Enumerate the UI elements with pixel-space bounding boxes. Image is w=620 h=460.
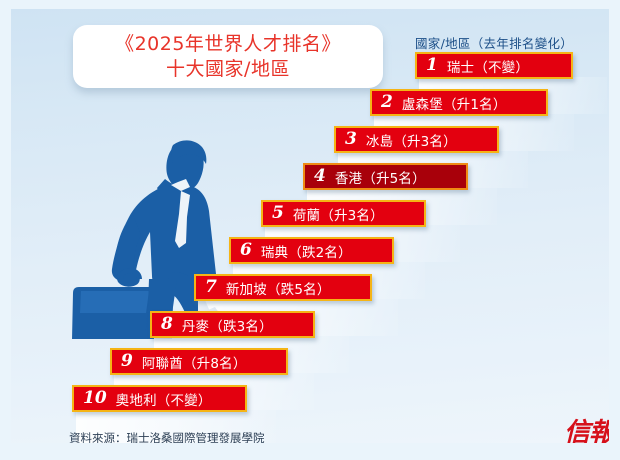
rank-bar-3[interactable]: 3 冰島（升3名） <box>334 126 499 153</box>
rank-number-4: 4 <box>305 168 328 185</box>
rank-bar-4[interactable]: 4 香港（升5名） <box>303 163 468 190</box>
rank-number-7: 7 <box>196 279 219 296</box>
rank-number-2: 2 <box>372 94 395 111</box>
infographic-panel: 《2025年世界人才排名》 十大國家/地區 國家/地區（去年排名變化） <box>11 9 609 443</box>
rank-label-1: 瑞士（不變） <box>440 56 539 76</box>
publisher-logo: 信報 <box>544 417 609 443</box>
rank-number-6: 6 <box>231 242 254 259</box>
rank-bar-5[interactable]: 5 荷蘭（升3名） <box>261 200 426 227</box>
step-rank-5: 5 荷蘭（升3名） <box>261 200 426 227</box>
step-rank-2: 2 盧森堡（升1名） <box>370 89 548 116</box>
step-rank-6: 6 瑞典（跌2名） <box>229 237 394 264</box>
rank-label-5: 荷蘭（升3名） <box>286 204 394 224</box>
step-rank-4: 4 香港（升5名） <box>303 163 468 190</box>
rank-label-9: 阿聯酋（升8名） <box>135 352 257 372</box>
step-rank-7: 7 新加坡（跌5名） <box>194 274 372 301</box>
rank-number-5: 5 <box>263 205 286 222</box>
step-rank-10: 10 奧地利（不變） <box>72 385 247 412</box>
rank-label-10: 奧地利（不變） <box>109 389 222 409</box>
rank-bar-10[interactable]: 10 奧地利（不變） <box>72 385 247 412</box>
step-rank-3: 3 冰島（升3名） <box>334 126 499 153</box>
rank-bar-2[interactable]: 2 盧森堡（升1名） <box>370 89 548 116</box>
rank-label-4: 香港（升5名） <box>328 167 436 187</box>
step-rank-1: 1 瑞士（不變） <box>415 52 573 79</box>
rank-bar-6[interactable]: 6 瑞典（跌2名） <box>229 237 394 264</box>
rank-number-1: 1 <box>417 57 440 74</box>
rank-number-9: 9 <box>112 353 135 370</box>
rank-label-6: 瑞典（跌2名） <box>254 241 362 261</box>
infographic-root: 《2025年世界人才排名》 十大國家/地區 國家/地區（去年排名變化） <box>0 0 620 460</box>
rank-number-3: 3 <box>336 131 359 148</box>
rank-bar-7[interactable]: 7 新加坡（跌5名） <box>194 274 372 301</box>
rank-label-8: 丹麥（跌3名） <box>175 315 283 335</box>
rank-bar-9[interactable]: 9 阿聯酋（升8名） <box>110 348 288 375</box>
step-rank-9: 9 阿聯酋（升8名） <box>110 348 288 375</box>
rank-bar-1[interactable]: 1 瑞士（不變） <box>415 52 573 79</box>
rank-number-8: 8 <box>152 316 175 333</box>
ranking-steps-list: 1 瑞士（不變） 2 盧森堡（升1名） 3 冰島（升3名） <box>11 9 609 443</box>
source-note: 資料來源：瑞士洛桑國際管理發展學院 <box>69 430 265 443</box>
rank-label-3: 冰島（升3名） <box>359 130 467 150</box>
rank-label-2: 盧森堡（升1名） <box>395 93 517 113</box>
step-rank-8: 8 丹麥（跌3名） <box>150 311 315 338</box>
rank-bar-8[interactable]: 8 丹麥（跌3名） <box>150 311 315 338</box>
rank-number-10: 10 <box>74 390 109 407</box>
rank-label-7: 新加坡（跌5名） <box>219 278 341 298</box>
